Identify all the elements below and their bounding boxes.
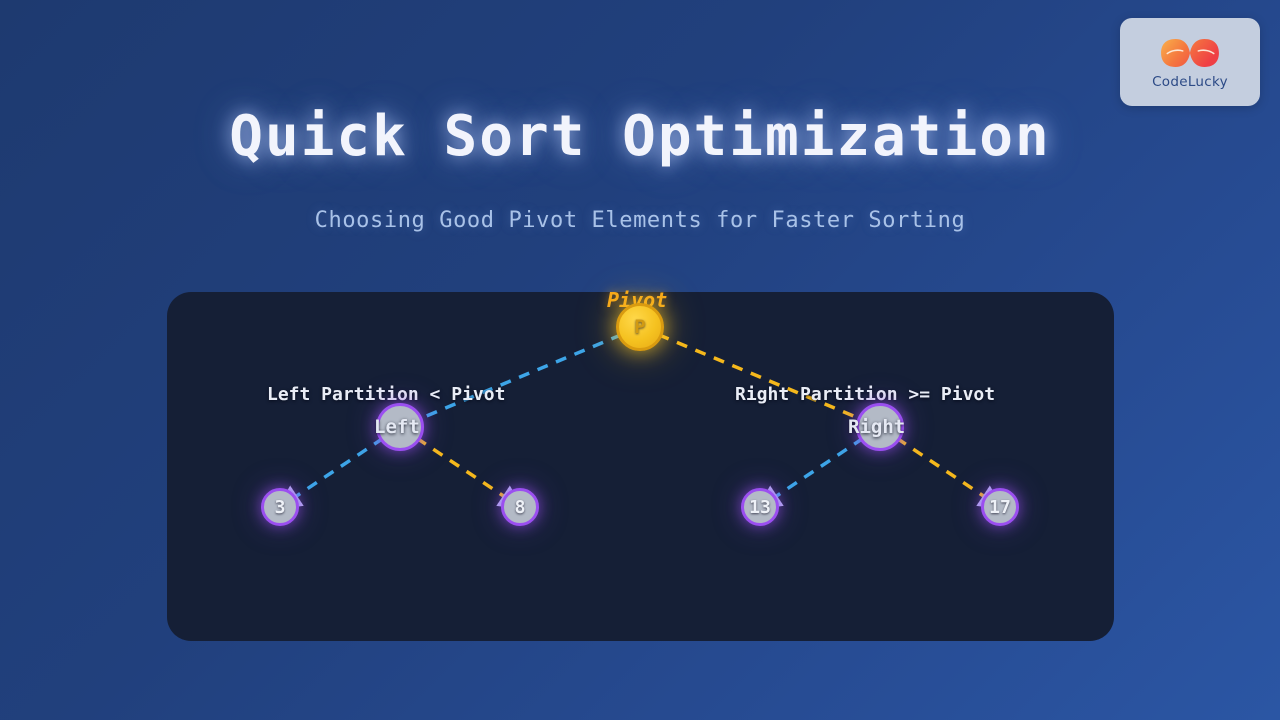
node-leaf-8-label: 8: [515, 497, 526, 518]
slide-canvas: CodeLucky Quick Sort Optimization Choosi…: [0, 0, 1280, 720]
node-leaf-3[interactable]: 3: [261, 488, 299, 526]
node-leaf-8[interactable]: 8: [501, 488, 539, 526]
codelucky-logo-badge[interactable]: CodeLucky: [1120, 18, 1260, 106]
node-leaf-13[interactable]: 13: [741, 488, 779, 526]
quicksort-tree-panel: Pivot Left Partition < Pivot Right Parti…: [167, 292, 1114, 641]
node-leaf-17-label: 17: [989, 497, 1011, 518]
edge-pivot-to-right: [640, 327, 880, 427]
node-leaf-13-label: 13: [749, 497, 771, 518]
node-right-label: Right: [848, 416, 905, 438]
node-leaf-17[interactable]: 17: [981, 488, 1019, 526]
page-title: Quick Sort Optimization: [0, 104, 1280, 169]
logo-wordmark: CodeLucky: [1152, 74, 1228, 90]
right-partition-label: Right Partition >= Pivot: [735, 384, 995, 405]
node-leaf-3-label: 3: [275, 497, 286, 518]
node-pivot-label: P: [634, 316, 645, 338]
node-left-label: Left: [374, 416, 420, 438]
left-partition-label: Left Partition < Pivot: [267, 384, 505, 405]
infinity-icon: [1159, 34, 1221, 72]
node-pivot[interactable]: P: [616, 303, 664, 351]
edge-pivot-to-left: [400, 327, 640, 427]
page-subtitle: Choosing Good Pivot Elements for Faster …: [0, 208, 1280, 233]
